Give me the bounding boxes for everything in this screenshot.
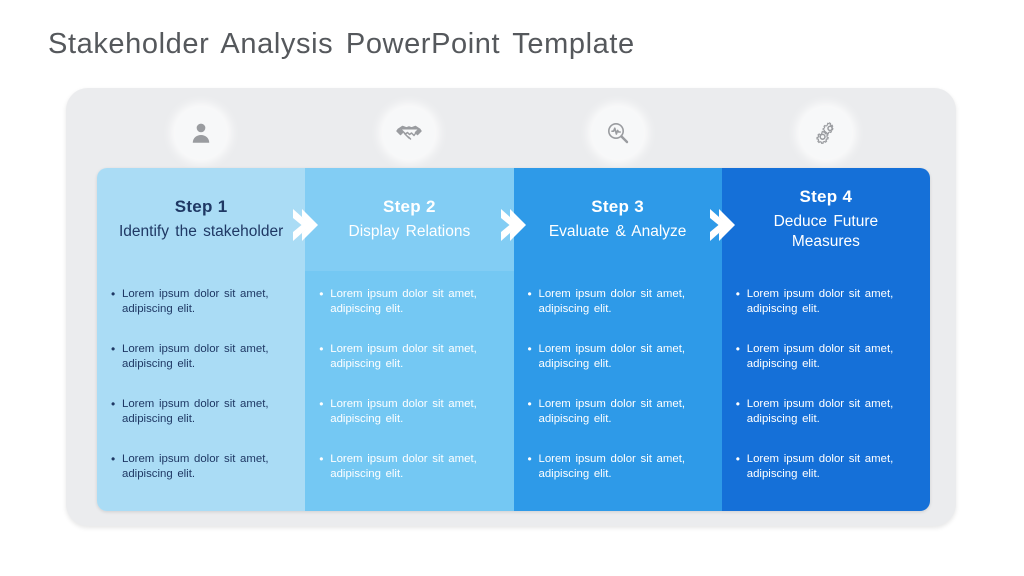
steps-strip: Step 1 Identify the stakeholder • Lorem … — [97, 168, 930, 511]
step-label-2: Step 2 — [383, 197, 436, 217]
step-body-1: • Lorem ipsum dolor sit amet, adipiscing… — [97, 271, 305, 511]
bullet-text: Lorem ipsum dolor sit amet, adipiscing e… — [330, 452, 497, 482]
bullet-text: Lorem ipsum dolor sit amet, adipiscing e… — [330, 397, 497, 427]
list-item: • Lorem ipsum dolor sit amet, adipiscing… — [528, 452, 706, 482]
slide-canvas: Stakeholder Analysis PowerPoint Template — [0, 0, 1024, 576]
gears-icon — [813, 120, 839, 146]
list-item: • Lorem ipsum dolor sit amet, adipiscing… — [111, 342, 289, 372]
bullet-dot: • — [111, 287, 122, 303]
list-item: • Lorem ipsum dolor sit amet, adipiscing… — [111, 287, 289, 317]
step-column-3[interactable]: Step 3 Evaluate & Analyze • Lorem ipsum … — [514, 168, 722, 511]
list-item: • Lorem ipsum dolor sit amet, adipiscing… — [736, 397, 914, 427]
bullet-text: Lorem ipsum dolor sit amet, adipiscing e… — [122, 397, 289, 427]
bullet-dot: • — [319, 342, 330, 358]
step-label-3: Step 3 — [591, 197, 644, 217]
bullet-text: Lorem ipsum dolor sit amet, adipiscing e… — [747, 397, 914, 427]
step-title-1: Identify the stakeholder — [119, 222, 283, 242]
step-column-4[interactable]: Step 4 Deduce Future Measures • Lorem ip… — [722, 168, 930, 511]
icon-circle-3 — [592, 107, 644, 159]
icon-circle-4 — [800, 107, 852, 159]
icon-cell-2 — [305, 104, 513, 162]
bullet-text: Lorem ipsum dolor sit amet, adipiscing e… — [122, 287, 289, 317]
step-label-1: Step 1 — [175, 197, 228, 217]
list-item: • Lorem ipsum dolor sit amet, adipiscing… — [528, 287, 706, 317]
icon-cell-4 — [722, 104, 930, 162]
bullet-text: Lorem ipsum dolor sit amet, adipiscing e… — [539, 397, 706, 427]
list-item: • Lorem ipsum dolor sit amet, adipiscing… — [736, 452, 914, 482]
bullet-text: Lorem ipsum dolor sit amet, adipiscing e… — [747, 287, 914, 317]
bullet-dot: • — [111, 397, 122, 413]
list-item: • Lorem ipsum dolor sit amet, adipiscing… — [736, 287, 914, 317]
step-column-2[interactable]: Step 2 Display Relations • Lorem ipsum d… — [305, 168, 513, 511]
step-column-1[interactable]: Step 1 Identify the stakeholder • Lorem … — [97, 168, 305, 511]
list-item: • Lorem ipsum dolor sit amet, adipiscing… — [319, 397, 497, 427]
list-item: • Lorem ipsum dolor sit amet, adipiscing… — [319, 287, 497, 317]
icon-cell-1 — [97, 104, 305, 162]
person-icon — [188, 120, 214, 146]
bullet-dot: • — [319, 452, 330, 468]
bullet-text: Lorem ipsum dolor sit amet, adipiscing e… — [747, 342, 914, 372]
list-item: • Lorem ipsum dolor sit amet, adipiscing… — [319, 452, 497, 482]
bullet-dot: • — [319, 397, 330, 413]
step-header-3: Step 3 Evaluate & Analyze — [514, 168, 722, 271]
list-item: • Lorem ipsum dolor sit amet, adipiscing… — [111, 452, 289, 482]
bullet-dot: • — [736, 397, 747, 413]
bullet-text: Lorem ipsum dolor sit amet, adipiscing e… — [539, 287, 706, 317]
handshake-icon — [395, 119, 423, 147]
bullet-text: Lorem ipsum dolor sit amet, adipiscing e… — [539, 452, 706, 482]
bullet-text: Lorem ipsum dolor sit amet, adipiscing e… — [747, 452, 914, 482]
step-header-2: Step 2 Display Relations — [305, 168, 513, 271]
step-header-1: Step 1 Identify the stakeholder — [97, 168, 305, 271]
list-item: • Lorem ipsum dolor sit amet, adipiscing… — [111, 397, 289, 427]
magnifier-analytics-icon — [605, 120, 631, 146]
bullet-text: Lorem ipsum dolor sit amet, adipiscing e… — [122, 342, 289, 372]
list-item: • Lorem ipsum dolor sit amet, adipiscing… — [319, 342, 497, 372]
page-title: Stakeholder Analysis PowerPoint Template — [48, 28, 635, 61]
step-title-2: Display Relations — [349, 222, 471, 242]
bullet-dot: • — [736, 342, 747, 358]
bullet-dot: • — [736, 452, 747, 468]
bullet-dot: • — [111, 342, 122, 358]
bullet-dot: • — [528, 342, 539, 358]
bullet-dot: • — [528, 287, 539, 303]
icon-row — [97, 104, 930, 162]
bullet-text: Lorem ipsum dolor sit amet, adipiscing e… — [539, 342, 706, 372]
bullet-text: Lorem ipsum dolor sit amet, adipiscing e… — [330, 342, 497, 372]
bullet-dot: • — [736, 287, 747, 303]
step-header-4: Step 4 Deduce Future Measures — [722, 168, 930, 271]
step-title-4: Deduce Future Measures — [742, 212, 910, 252]
step-label-4: Step 4 — [799, 187, 852, 207]
list-item: • Lorem ipsum dolor sit amet, adipiscing… — [528, 342, 706, 372]
step-body-4: • Lorem ipsum dolor sit amet, adipiscing… — [722, 271, 930, 511]
bullet-dot: • — [111, 452, 122, 468]
bullet-dot: • — [528, 397, 539, 413]
step-title-3: Evaluate & Analyze — [549, 222, 687, 242]
list-item: • Lorem ipsum dolor sit amet, adipiscing… — [736, 342, 914, 372]
icon-circle-1 — [175, 107, 227, 159]
bullet-text: Lorem ipsum dolor sit amet, adipiscing e… — [330, 287, 497, 317]
step-body-2: • Lorem ipsum dolor sit amet, adipiscing… — [305, 271, 513, 511]
step-body-3: • Lorem ipsum dolor sit amet, adipiscing… — [514, 271, 722, 511]
bullet-dot: • — [319, 287, 330, 303]
icon-cell-3 — [514, 104, 722, 162]
bullet-text: Lorem ipsum dolor sit amet, adipiscing e… — [122, 452, 289, 482]
bullet-dot: • — [528, 452, 539, 468]
list-item: • Lorem ipsum dolor sit amet, adipiscing… — [528, 397, 706, 427]
icon-circle-2 — [383, 107, 435, 159]
